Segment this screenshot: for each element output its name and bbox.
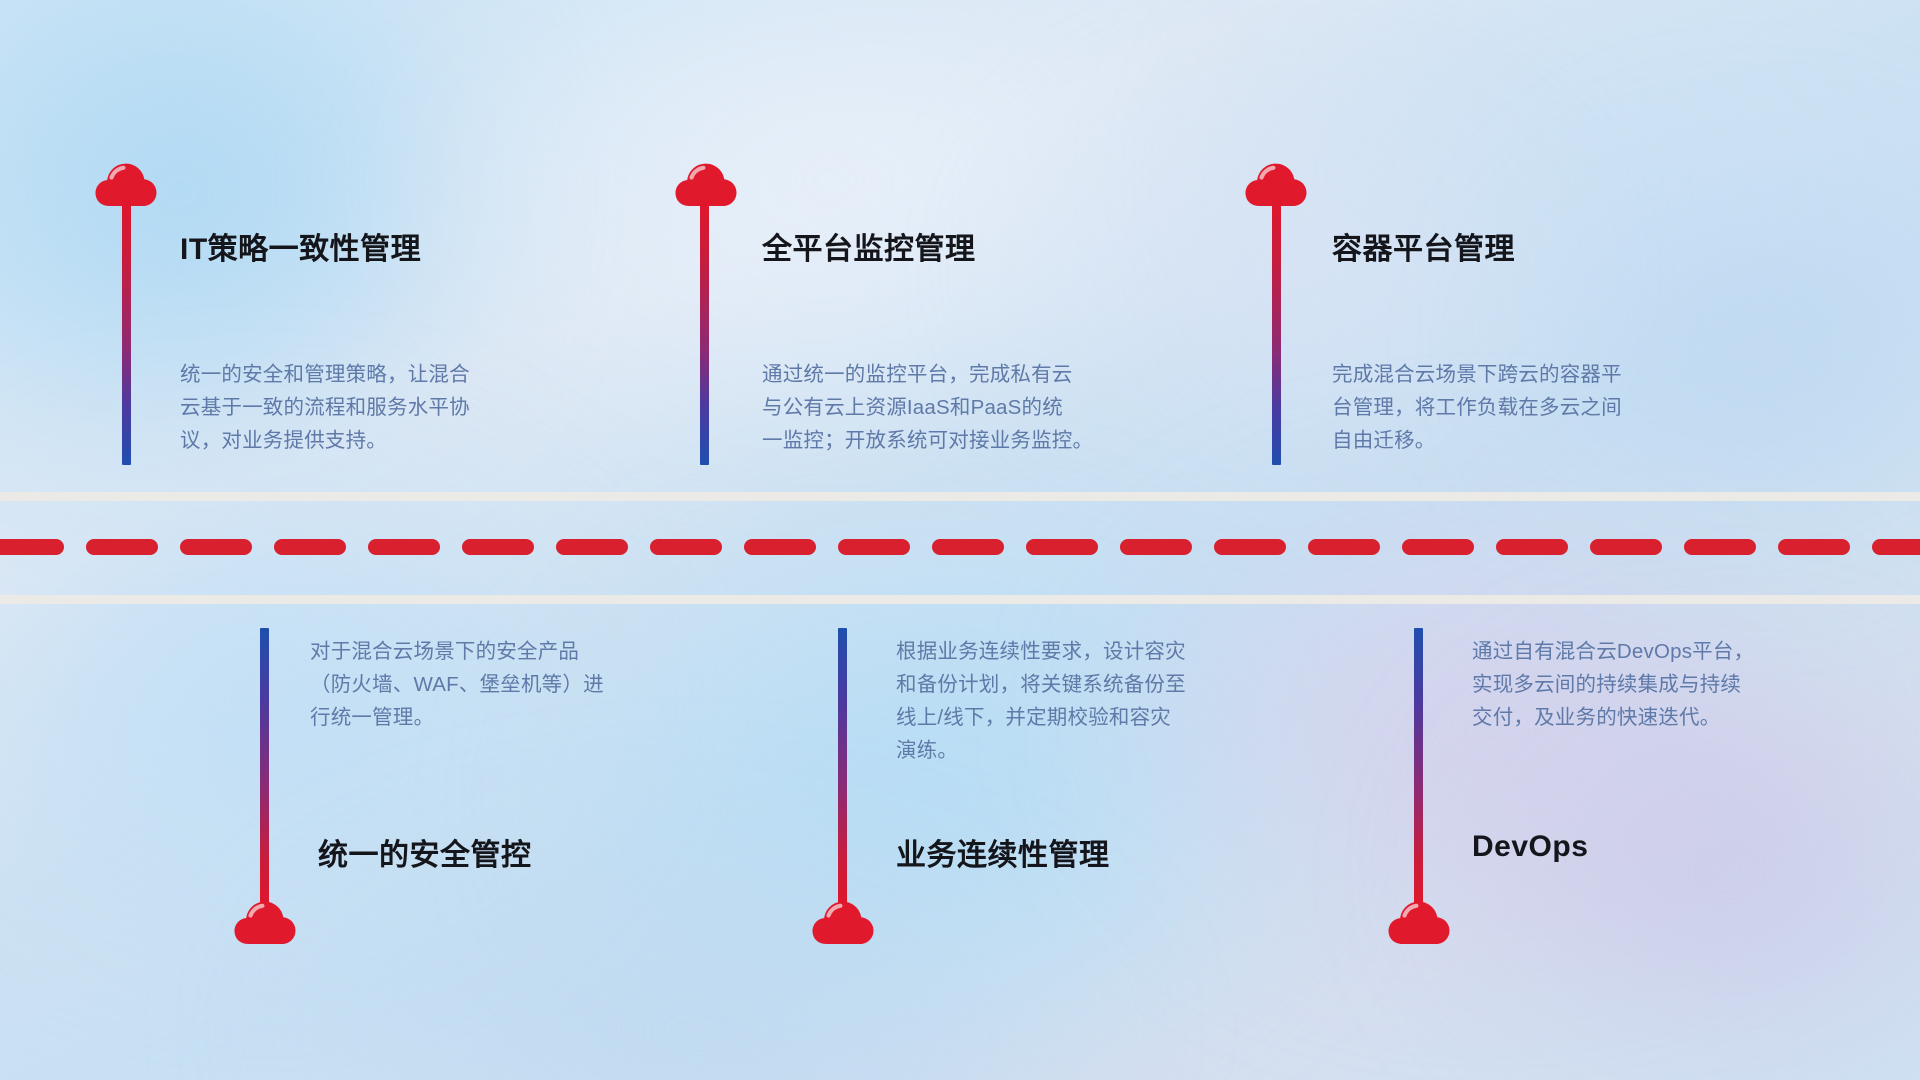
column-title: IT策略一致性管理 — [180, 224, 421, 268]
column-body: 通过统一的监控平台，完成私有云 与公有云上资源IaaS和PaaS的统 一监控；开… — [762, 358, 1202, 457]
road-edge-bottom — [0, 595, 1920, 604]
column-body: 完成混合云场景下跨云的容器平 台管理，将工作负载在多云之间 自由迁移。 — [1332, 358, 1772, 457]
column-title: 全平台监控管理 — [762, 224, 976, 268]
column-title: DevOps — [1472, 830, 1588, 864]
cloud-icon — [1388, 898, 1450, 946]
cloud-icon — [812, 898, 874, 946]
column-body: 对于混合云场景下的安全产品 （防火墙、WAF、堡垒机等）进 行统一管理。 — [310, 635, 740, 734]
road-edge-top — [0, 492, 1920, 501]
column-body: 统一的安全和管理策略，让混合 云基于一致的流程和服务水平协 议，对业务提供支持。 — [180, 358, 610, 457]
column-title: 容器平台管理 — [1332, 224, 1515, 268]
connector-stem — [122, 200, 131, 465]
connector-stem — [700, 200, 709, 465]
cloud-icon — [234, 898, 296, 946]
road-dashes — [0, 539, 1920, 555]
road-dash-line — [0, 539, 1920, 555]
column-body: 通过自有混合云DevOps平台， 实现多云间的持续集成与持续 交付，及业务的快速… — [1472, 635, 1902, 734]
column-body: 根据业务连续性要求，设计容灾 和备份计划，将关键系统备份至 线上/线下，并定期校… — [896, 635, 1326, 767]
connector-stem — [1272, 200, 1281, 465]
column-title: 业务连续性管理 — [896, 830, 1110, 874]
infographic-canvas: IT策略一致性管理 统一的安全和管理策略，让混合 云基于一致的流程和服务水平协 … — [0, 0, 1920, 1080]
column-title: 统一的安全管控 — [318, 830, 532, 874]
connector-stem — [838, 628, 847, 908]
connector-stem — [1414, 628, 1423, 908]
connector-stem — [260, 628, 269, 908]
